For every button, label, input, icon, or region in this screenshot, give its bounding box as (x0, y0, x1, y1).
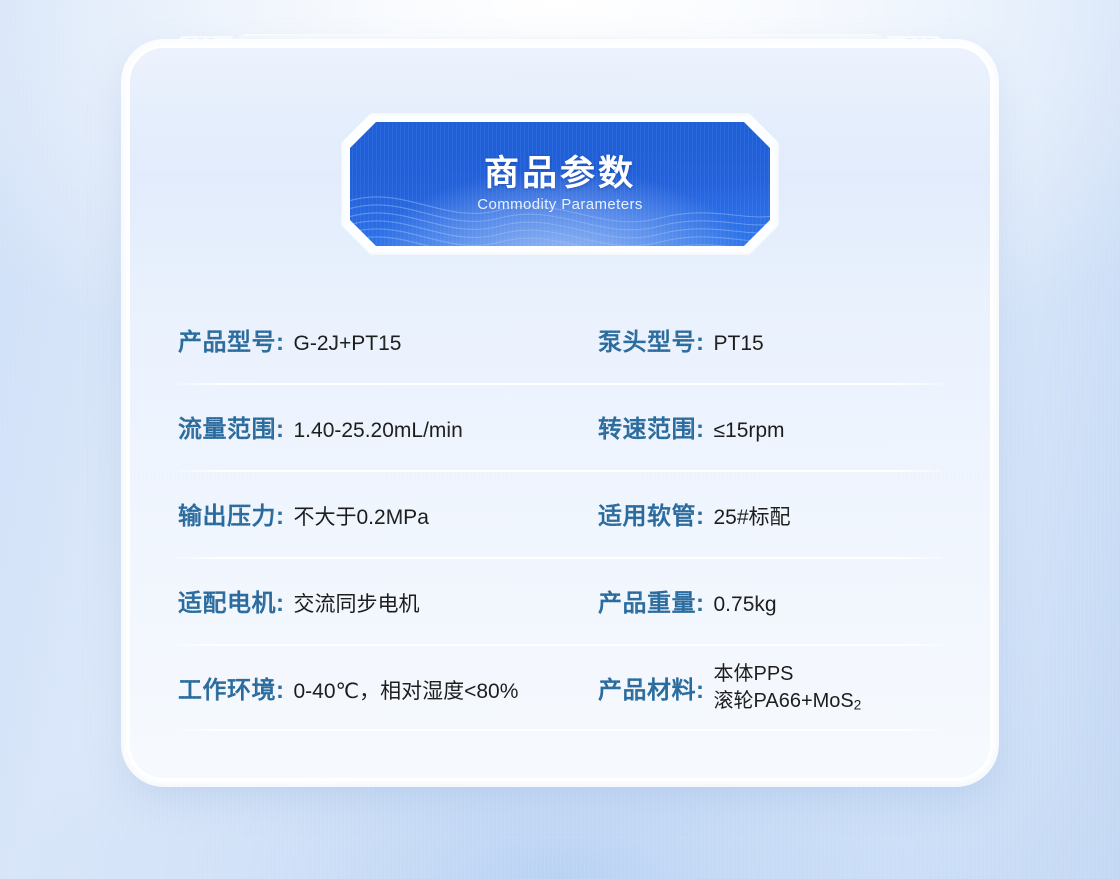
spec-label: 输出压力: (178, 496, 285, 531)
spec-value: 交流同步电机 (294, 588, 420, 618)
spec-row: 工作环境: 0-40℃，相对湿度<80% 产品材料: 本体PPS 滚轮PA66+… (178, 644, 942, 731)
title-banner: 商品参数 Commodity Parameters (350, 122, 770, 246)
material-formula-text: 滚轮PA66+MoS (714, 690, 854, 712)
spec-row: 产品型号: G-2J+PT15 泵头型号: PT15 (178, 296, 942, 383)
spec-label: 泵头型号: (598, 322, 705, 357)
spec-label: 工作环境: (178, 670, 285, 705)
spec-value-line-2: 滚轮PA66+MoS2 (714, 688, 862, 715)
spec-cell-left: 工作环境: 0-40℃，相对湿度<80% (178, 670, 598, 705)
spec-value: ≤15rpm (714, 419, 785, 443)
spec-value: G-2J+PT15 (294, 332, 402, 356)
spec-cell-right: 产品材料: 本体PPS 滚轮PA66+MoS2 (598, 661, 942, 714)
spec-row: 适配电机: 交流同步电机 产品重量: 0.75kg (178, 557, 942, 644)
spec-cell-left: 适配电机: 交流同步电机 (178, 583, 598, 618)
spec-value: 1.40-25.20mL/min (294, 419, 463, 443)
spec-row: 流量范围: 1.40-25.20mL/min 转速范围: ≤15rpm (178, 383, 942, 470)
spec-label: 流量范围: (178, 409, 285, 444)
spec-label: 适用软管: (598, 496, 705, 531)
spec-cell-right: 适用软管: 25#标配 (598, 496, 942, 531)
banner-subtitle: Commodity Parameters (477, 196, 643, 213)
spec-cell-left: 输出压力: 不大于0.2MPa (178, 496, 598, 531)
product-parameters-page: 商品参数 Commodity Parameters 产品型号: G-2J+PT1… (0, 0, 1120, 879)
spec-label: 产品型号: (178, 322, 285, 357)
spec-cell-left: 产品型号: G-2J+PT15 (178, 322, 598, 357)
banner-title: 商品参数 (484, 155, 636, 192)
spec-label: 转速范围: (598, 409, 705, 444)
spec-value: 25#标配 (714, 501, 791, 531)
spec-cell-right: 泵头型号: PT15 (598, 322, 942, 357)
banner-text-group: 商品参数 Commodity Parameters (350, 122, 770, 246)
spec-value: PT15 (714, 332, 764, 356)
spec-value-multiline: 本体PPS 滚轮PA66+MoS2 (714, 661, 862, 714)
spec-cell-right: 产品重量: 0.75kg (598, 583, 942, 618)
spec-label: 产品材料: (598, 670, 705, 705)
spec-label: 产品重量: (598, 583, 705, 618)
spec-label: 适配电机: (178, 583, 285, 618)
material-formula-subscript: 2 (854, 697, 862, 712)
spec-value: 0-40℃，相对湿度<80% (294, 675, 519, 705)
spec-value-line-1: 本体PPS (714, 661, 862, 688)
spec-cell-left: 流量范围: 1.40-25.20mL/min (178, 409, 598, 444)
banner-body: 商品参数 Commodity Parameters (350, 122, 770, 246)
spec-value: 不大于0.2MPa (294, 501, 429, 531)
spec-row: 输出压力: 不大于0.2MPa 适用软管: 25#标配 (178, 470, 942, 557)
spec-table: 产品型号: G-2J+PT15 泵头型号: PT15 流量范围: 1.40-25… (178, 296, 942, 731)
spec-value: 0.75kg (714, 593, 777, 617)
spec-cell-right: 转速范围: ≤15rpm (598, 409, 942, 444)
